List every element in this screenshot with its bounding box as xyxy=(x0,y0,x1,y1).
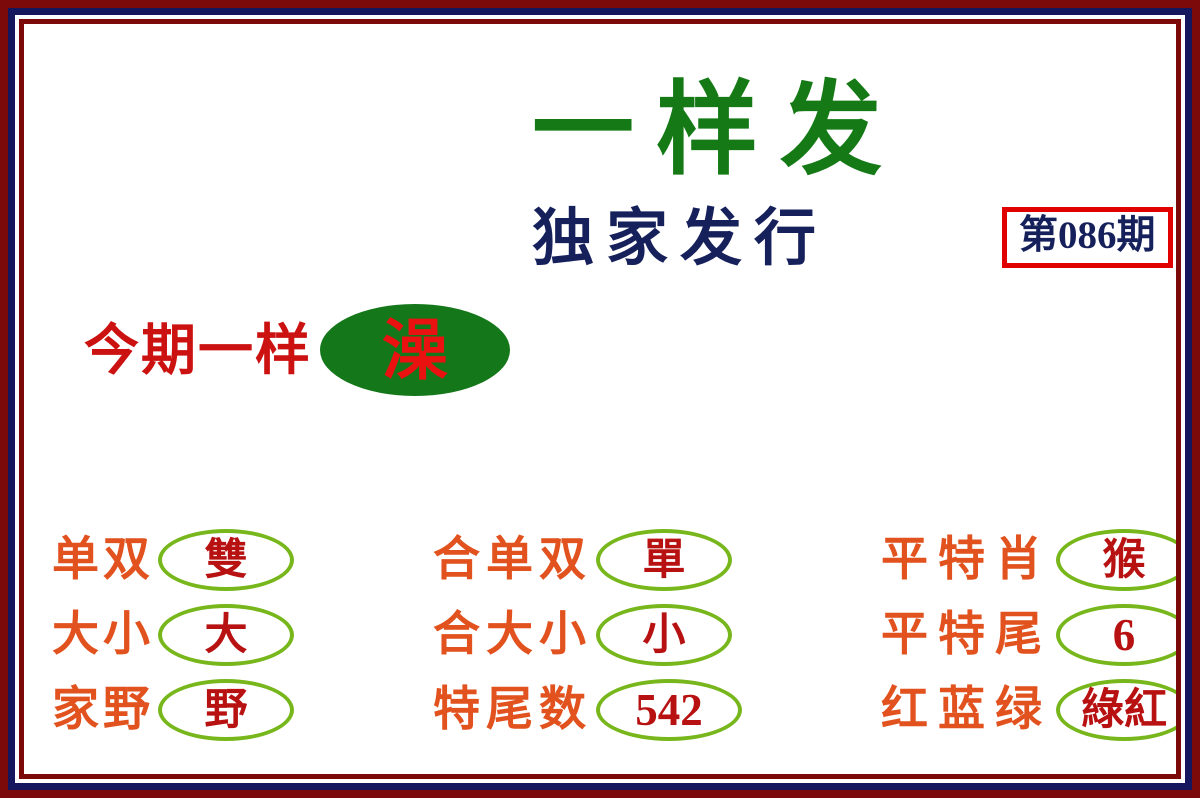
result-value-oval: 542 xyxy=(596,679,742,741)
result-label: 大小 xyxy=(52,609,154,661)
subtitle: 独家发行 xyxy=(532,204,828,272)
result-value-oval: 單 xyxy=(596,529,732,591)
result-value-oval: 6 xyxy=(1056,604,1176,666)
page-title: 一样发 xyxy=(532,76,1172,186)
result-row: 单双 雙 xyxy=(52,522,294,597)
headline-value-oval: 澡 xyxy=(320,304,510,396)
headline-value: 澡 xyxy=(382,317,448,383)
poster-canvas: 一样发 独家发行 第086期 今期一样 澡 单双 雙 xyxy=(24,24,1176,774)
result-value: 6 xyxy=(1113,612,1136,658)
result-value-oval: 雙 xyxy=(158,529,294,591)
lottery-tip-poster: 一样发 独家发行 第086期 今期一样 澡 单双 雙 xyxy=(0,0,1200,798)
headline-label: 今期一样 xyxy=(84,320,312,380)
result-value-oval: 綠紅 xyxy=(1056,679,1176,741)
result-value-oval: 大 xyxy=(158,604,294,666)
result-row: 合大小 小 xyxy=(433,597,742,672)
result-row: 大小 大 xyxy=(52,597,294,672)
result-row: 平特肖 猴 xyxy=(881,522,1176,597)
result-row: 合单双 單 xyxy=(433,522,742,597)
result-row: 平特尾 6 xyxy=(881,597,1176,672)
result-label: 家野 xyxy=(52,684,154,736)
result-label: 平特肖 xyxy=(881,534,1052,586)
result-value: 猴 xyxy=(1103,537,1146,583)
result-row: 红蓝绿 綠紅 xyxy=(881,672,1176,747)
result-value: 野 xyxy=(205,687,248,733)
result-value: 雙 xyxy=(205,537,248,583)
result-label: 红蓝绿 xyxy=(881,684,1052,736)
result-label: 合单双 xyxy=(433,534,592,586)
headline-result: 今期一样 澡 xyxy=(84,302,510,398)
result-value-oval: 猴 xyxy=(1056,529,1176,591)
results-grid: 单双 雙 大小 大 家野 野 xyxy=(52,522,1176,747)
results-column-1: 单双 雙 大小 大 家野 野 xyxy=(52,522,294,747)
issue-number-label: 第086期 xyxy=(1019,214,1156,258)
result-row: 家野 野 xyxy=(52,672,294,747)
result-label: 合大小 xyxy=(433,609,592,661)
subtitle-row: 独家发行 第086期 xyxy=(532,204,1176,274)
result-label: 平特尾 xyxy=(881,609,1052,661)
results-column-3: 平特肖 猴 平特尾 6 红蓝绿 綠紅 xyxy=(881,522,1176,747)
issue-badge: 第086期 xyxy=(1002,207,1173,268)
result-value-oval: 小 xyxy=(596,604,732,666)
result-value: 大 xyxy=(205,612,248,658)
result-row: 特尾数 542 xyxy=(433,672,742,747)
result-value: 單 xyxy=(643,537,686,583)
result-value: 綠紅 xyxy=(1081,687,1167,733)
result-value-oval: 野 xyxy=(158,679,294,741)
result-label: 特尾数 xyxy=(433,684,592,736)
results-column-2: 合单双 單 合大小 小 特尾数 542 xyxy=(433,522,742,747)
result-label: 单双 xyxy=(52,534,154,586)
result-value: 小 xyxy=(643,612,686,658)
result-value: 542 xyxy=(635,687,703,733)
